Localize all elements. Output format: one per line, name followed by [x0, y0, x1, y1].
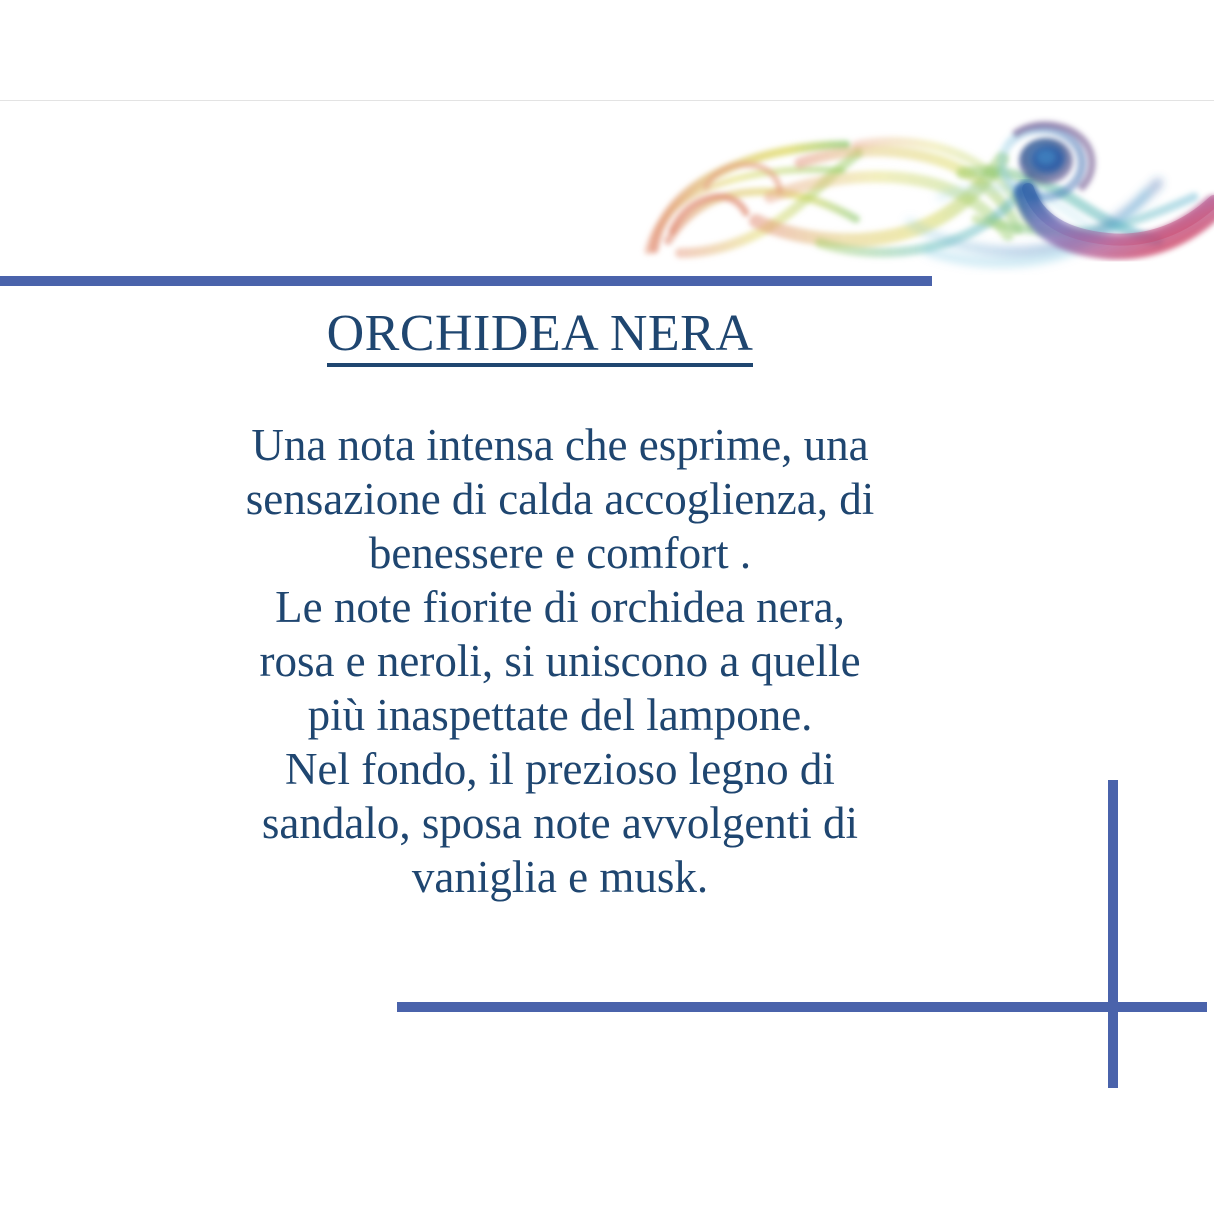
description-line: rosa e neroli, si uniscono a quelle — [60, 634, 1060, 688]
page-title: ORCHIDEA NERA — [327, 306, 754, 367]
description-line: benessere e comfort . — [60, 526, 1060, 580]
page-title-container: ORCHIDEA NERA — [0, 306, 1080, 367]
description-line: sensazione di calda accoglienza, di — [60, 472, 1060, 526]
description-line: Una nota intensa che esprime, una — [60, 418, 1060, 472]
blue-horizontal-rule — [0, 276, 932, 286]
description-line: Nel fondo, il prezioso legno di — [60, 742, 1060, 796]
colored-smoke-swirl-icon — [610, 101, 1214, 275]
blue-horizontal-rule-bottom — [397, 1002, 1207, 1012]
blue-vertical-rule — [1108, 780, 1118, 1088]
description-line: più inaspettate del lampone. — [60, 688, 1060, 742]
top-hairline-divider — [0, 100, 1214, 101]
description-line: sandalo, sposa note avvolgenti di — [60, 796, 1060, 850]
slide-canvas: ORCHIDEA NERA Una nota intensa che espri… — [0, 0, 1214, 1214]
description-text-block: Una nota intensa che esprime, una sensaz… — [60, 418, 1060, 904]
description-line: vaniglia e musk. — [60, 850, 1060, 904]
description-line: Le note fiorite di orchidea nera, — [60, 580, 1060, 634]
